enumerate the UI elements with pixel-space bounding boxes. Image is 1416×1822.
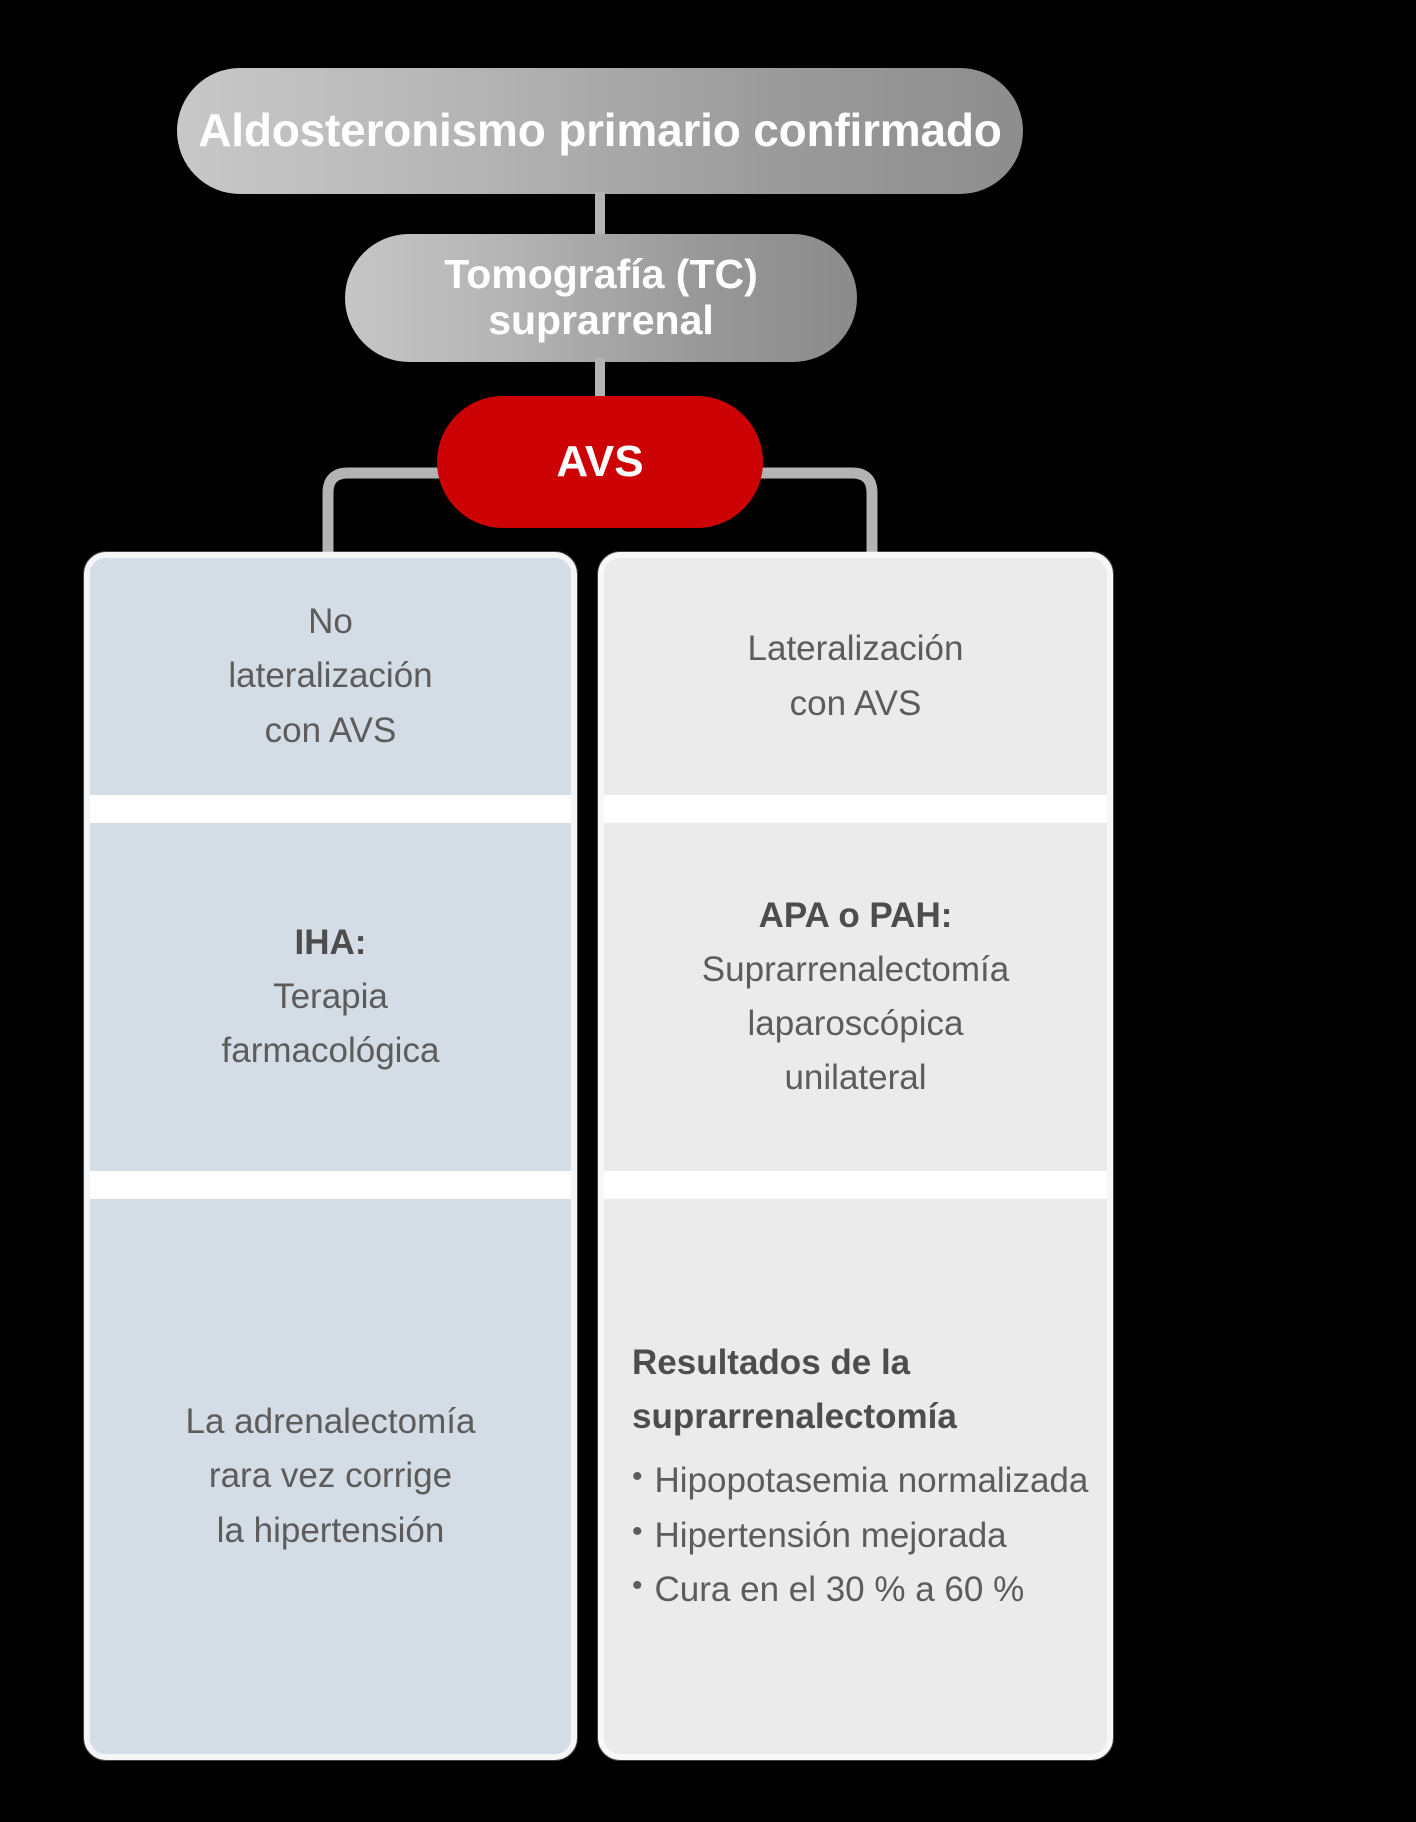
right-results-bullet-text: Cura en el 30 % a 60 %	[655, 1563, 1093, 1617]
right-results-heading-line-2: suprarrenalectomía	[632, 1390, 1093, 1444]
chevron-down-icon	[288, 795, 374, 823]
right-treatment-heading: APA o PAH:	[622, 889, 1089, 943]
node-label: AVS	[556, 437, 643, 486]
left-section-findings: No lateralización con AVS	[90, 558, 571, 795]
left-section-treatment: IHA: Terapia farmacológica	[90, 823, 571, 1171]
right-findings-line-1: Lateralización	[622, 622, 1089, 676]
right-results-bullet-text: Hipertensión mejorada	[655, 1509, 1093, 1563]
right-section-treatment: APA o PAH: Suprarrenalectomía laparoscóp…	[604, 823, 1107, 1171]
bullet-icon: •	[632, 1454, 643, 1499]
chevron-down-icon	[813, 1171, 899, 1199]
right-divider-2	[604, 1171, 1107, 1199]
node-tomografia-suprarrenal[interactable]: Tomografía (TC) suprarrenal	[345, 234, 857, 362]
bullet-icon: •	[632, 1509, 643, 1554]
left-outcome-line-2: rara vez corrige	[108, 1449, 553, 1503]
right-results-bullet: • Hipertensión mejorada	[632, 1509, 1093, 1563]
right-results-bullet: • Hipopotasemia normalizada	[632, 1454, 1093, 1508]
left-findings-line-3: con AVS	[108, 704, 553, 758]
chevron-down-icon	[813, 795, 899, 823]
right-results-bullet: • Cura en el 30 % a 60 %	[632, 1563, 1093, 1617]
card-no-lateralizacion[interactable]: No lateralización con AVS IHA: Terapia f…	[84, 552, 577, 1760]
right-treatment-line-3: unilateral	[622, 1051, 1089, 1105]
chevron-down-icon	[288, 1171, 374, 1199]
right-treatment-line-2: laparoscópica	[622, 997, 1089, 1051]
left-findings-line-2: lateralización	[108, 649, 553, 703]
diagram-canvas: Aldosteronismo primario confirmado Tomog…	[0, 0, 1416, 1822]
right-results-bullet-text: Hipopotasemia normalizada	[655, 1454, 1093, 1508]
bullet-icon: •	[632, 1563, 643, 1608]
left-treatment-line-1: Terapia	[108, 970, 553, 1024]
right-section-findings: Lateralización con AVS	[604, 558, 1107, 795]
left-divider-2	[90, 1171, 571, 1199]
right-treatment-line-1: Suprarrenalectomía	[622, 943, 1089, 997]
left-outcome-line-3: la hipertensión	[108, 1504, 553, 1558]
node-label-block: Tomografía (TC) suprarrenal	[444, 252, 758, 344]
right-findings-line-2: con AVS	[622, 677, 1089, 731]
right-results-heading-line-1: Resultados de la	[632, 1336, 1093, 1390]
left-outcome-line-1: La adrenalectomía	[108, 1395, 553, 1449]
right-section-results: Resultados de la suprarrenalectomía • Hi…	[604, 1199, 1107, 1754]
left-findings-line-1: No	[108, 595, 553, 649]
left-treatment-line-2: farmacológica	[108, 1024, 553, 1078]
left-section-outcome: La adrenalectomía rara vez corrige la hi…	[90, 1199, 571, 1754]
left-divider-1	[90, 795, 571, 823]
card-lateralizacion[interactable]: Lateralización con AVS APA o PAH: Suprar…	[598, 552, 1113, 1760]
node-label-line-1: Tomografía (TC)	[444, 252, 758, 298]
right-divider-1	[604, 795, 1107, 823]
connector-confirmado-to-tc	[595, 192, 605, 238]
node-aldosteronismo-confirmado[interactable]: Aldosteronismo primario confirmado	[177, 68, 1023, 194]
node-label-line-2: suprarrenal	[444, 298, 758, 344]
node-avs[interactable]: AVS	[437, 396, 763, 528]
node-label: Aldosteronismo primario confirmado	[198, 105, 1001, 157]
left-treatment-heading: IHA:	[108, 916, 553, 970]
